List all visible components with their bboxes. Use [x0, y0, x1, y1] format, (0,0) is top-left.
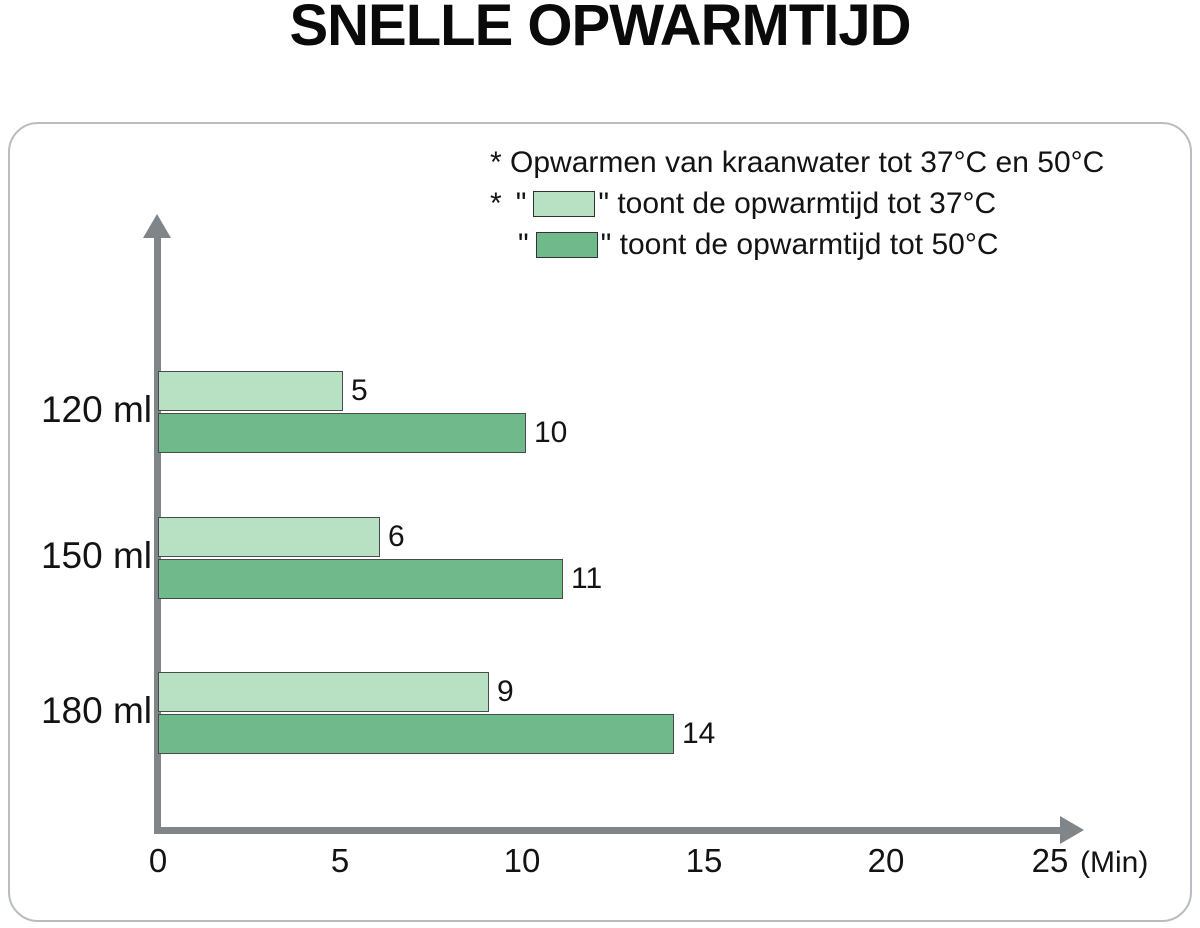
- y-axis-arrow-icon: [143, 214, 171, 238]
- bar-180ml-50c: [158, 714, 674, 754]
- bar-150ml-37c: [158, 517, 380, 557]
- bar-120ml-37c: [158, 371, 343, 411]
- category-label-150ml: 150 ml: [12, 535, 152, 577]
- plot-area: 120 ml 5 10 150 ml 6 11 180 ml 9 14 0 5 …: [10, 124, 1192, 920]
- category-label-120ml: 120 ml: [12, 389, 152, 431]
- x-axis-line: [154, 827, 1064, 834]
- x-tick-5: 5: [331, 842, 349, 880]
- x-tick-10: 10: [504, 842, 541, 880]
- x-tick-15: 15: [686, 842, 723, 880]
- bar-value-120ml-37c: 5: [351, 371, 368, 411]
- category-label-180ml: 180 ml: [12, 690, 152, 732]
- x-tick-0: 0: [149, 842, 167, 880]
- bar-value-150ml-50c: 11: [571, 559, 602, 599]
- bar-150ml-50c: [158, 559, 563, 599]
- bar-value-180ml-50c: 14: [682, 714, 715, 754]
- x-tick-20: 20: [868, 842, 905, 880]
- chart-card: * Opwarmen van kraanwater tot 37°C en 50…: [8, 122, 1192, 922]
- page-title: SNELLE OPWARMTIJD: [0, 0, 1200, 59]
- bar-120ml-50c: [158, 413, 526, 453]
- bar-value-150ml-37c: 6: [388, 517, 405, 557]
- bar-value-120ml-50c: 10: [534, 413, 567, 453]
- x-axis-unit-label: (Min): [1080, 846, 1148, 880]
- x-axis-arrow-icon: [1060, 816, 1084, 844]
- x-tick-25: 25: [1032, 842, 1069, 880]
- bar-value-180ml-37c: 9: [497, 672, 514, 712]
- bar-180ml-37c: [158, 672, 489, 712]
